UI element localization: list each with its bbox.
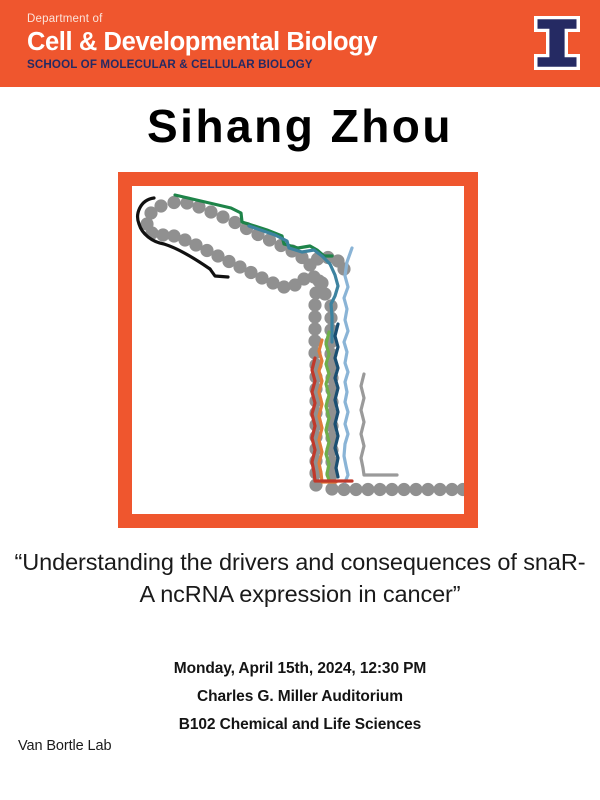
block-i-icon — [522, 8, 592, 78]
figure-frame — [118, 172, 478, 528]
strand-black-tail — [210, 269, 228, 277]
logistics-block: Monday, April 15th, 2024, 12:30 PM Charl… — [0, 655, 600, 739]
rna-structure-svg — [132, 186, 464, 514]
rna-beads-group — [140, 196, 464, 496]
rna-secondary-structure-diagram — [132, 186, 464, 514]
talk-datetime: Monday, April 15th, 2024, 12:30 PM — [0, 655, 600, 683]
strand-gray — [361, 374, 397, 475]
department-eyebrow: Department of — [27, 12, 507, 27]
illinois-block-i-logo — [522, 8, 592, 78]
school-name: SCHOOL OF MOLECULAR & CELLULAR BIOLOGY — [27, 58, 507, 72]
header-text-block: Department of Cell & Developmental Biolo… — [27, 12, 507, 72]
speaker-name: Sihang Zhou — [0, 98, 600, 154]
talk-venue: Charles G. Miller Auditorium — [0, 683, 600, 711]
header-band: Department of Cell & Developmental Biolo… — [0, 0, 600, 87]
department-name: Cell & Developmental Biology — [27, 28, 507, 57]
strand-light-blue — [344, 248, 352, 482]
lab-name: Van Bortle Lab — [18, 738, 111, 754]
talk-title: “Understanding the drivers and consequen… — [12, 546, 588, 610]
talk-building: B102 Chemical and Life Sciences — [0, 711, 600, 739]
